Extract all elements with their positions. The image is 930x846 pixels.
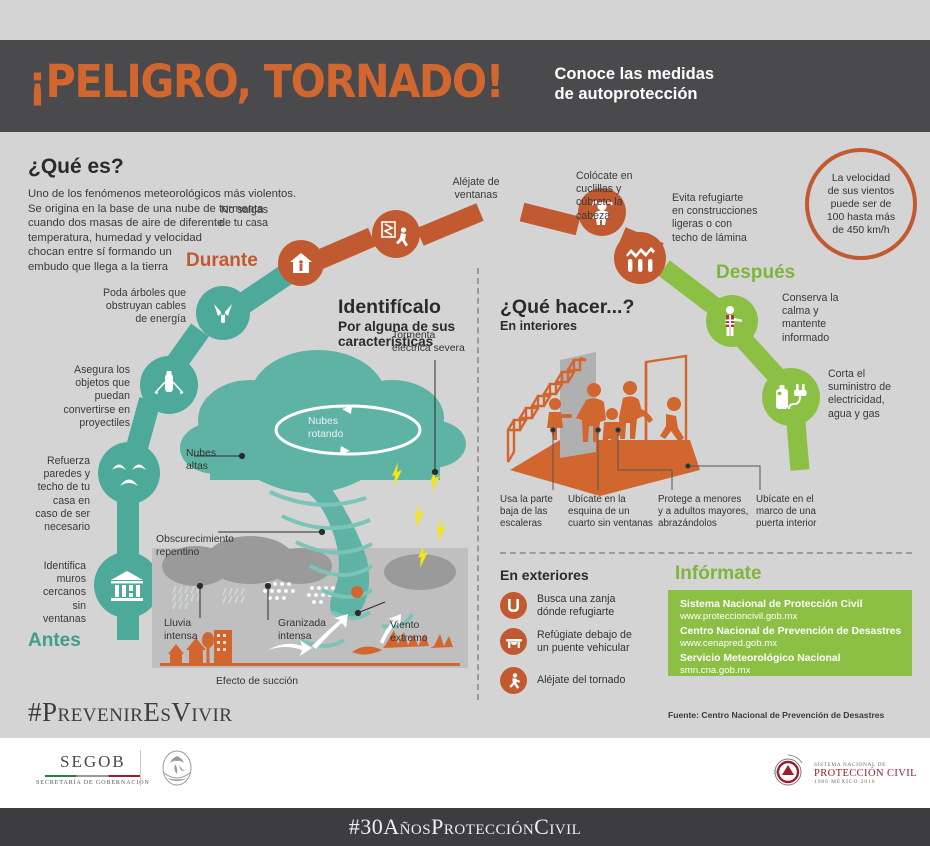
informate-url-2[interactable]: smn.cna.gob.mx: [680, 665, 841, 677]
intro-heading: ¿Qué es?: [28, 155, 124, 179]
label-viento-extremo: Viento extremo: [390, 620, 456, 645]
stage-label-durante: Durante: [186, 250, 258, 272]
header-subtitle: Conoce las medidas de autoprotección: [555, 64, 715, 104]
label-efecto-succion: Efecto de succión: [216, 676, 376, 689]
footer-divider: [140, 750, 141, 786]
node-durante-lightroof[interactable]: [614, 232, 666, 284]
informate-name-2: Servicio Meteorológico Nacional: [680, 653, 841, 665]
label-tormenta-electrica: Tormenta eléctrica severa: [392, 330, 482, 355]
label-despues-suministro: Corta el suministro de electricidad, agu…: [828, 368, 924, 421]
node-durante-house[interactable]: [278, 240, 324, 286]
wind-speed-text: La velocidad de sus vientos puede ser de…: [827, 172, 895, 237]
label-antes-walls: Refuerza paredes y techo de tu casa en c…: [4, 455, 90, 534]
label-antes-shears: Poda árboles que obstruyan cables de ene…: [58, 287, 186, 327]
informate-name-0: Sistema Nacional de Protección Civil: [680, 599, 862, 611]
stage-label-despues: Después: [716, 262, 795, 284]
node-antes-objects[interactable]: [140, 356, 198, 414]
exteriores-label-0: Busca una zanja dónde refugiarte: [537, 593, 615, 619]
stage-label-antes: Antes: [28, 630, 81, 652]
informate-url-1[interactable]: www.cenapred.gob.mx: [680, 638, 901, 650]
bridge-icon: [500, 628, 527, 655]
label-nubes-altas: Nubes altas: [186, 448, 246, 473]
informate-url-0[interactable]: www.proteccioncivil.gob.mx: [680, 611, 862, 623]
label-durante-house: No salgas de tu casa: [186, 204, 268, 230]
segob-name: SEGOB: [36, 752, 150, 772]
gas-tank-icon: [152, 368, 186, 402]
horizontal-divider: [500, 552, 912, 554]
footer-dark: #30AñosProtecciónCivil: [0, 808, 930, 846]
node-despues-calma[interactable]: [706, 295, 758, 347]
page-title: ¡PELIGRO, TORNADO!: [28, 58, 503, 106]
label-durante-window: Aléjate de ventanas: [428, 176, 524, 202]
label-durante-lightroof: Evita refugiarte en construcciones liger…: [672, 192, 790, 245]
proteccion-civil-logo: 30 SISTEMA NACIONAL DE PROTECCIÓN CIVIL …: [768, 752, 917, 795]
label-durante-crouch: Colócate en cuclillas y cúbrete la cabez…: [576, 170, 666, 223]
identificalo-title: Identifícalo: [338, 296, 441, 319]
pc-line-3: 1986 MÉXICO 2016: [814, 779, 917, 785]
quehacer-title: ¿Qué hacer...?: [500, 296, 634, 319]
roof-walls-icon: [109, 456, 149, 490]
hashtag-prevenir: #PrevenirEsVivir: [28, 697, 232, 728]
svg-text:30: 30: [773, 770, 779, 776]
node-antes-walls[interactable]: [98, 442, 160, 504]
label-granizada-intensa: Granizada intensa: [278, 618, 352, 643]
exteriores-item-0[interactable]: Busca una zanja dónde refugiarte: [500, 592, 680, 619]
informate-name-1: Centro Nacional de Prevención de Desastr…: [680, 626, 901, 638]
label-nubes-rotando: Nubes rotando: [308, 416, 388, 441]
house-icon: [287, 249, 315, 277]
source-note: Fuente: Centro Nacional de Prevención de…: [668, 710, 884, 720]
interior-item-1: Ubícate en la esquina de un cuarto sin v…: [568, 494, 658, 530]
ditch-icon: [500, 592, 527, 619]
node-despues-suministro[interactable]: [762, 368, 820, 426]
exteriores-item-1[interactable]: Refúgiate debajo de un puente vehicular: [500, 628, 690, 655]
segob-tricolor-bar: [45, 775, 141, 777]
vest-person-icon: [717, 304, 747, 338]
label-obscurecimiento: Obscurecimiento repentino: [156, 534, 266, 559]
hashtag-30anos: #30AñosProtecciónCivil: [349, 814, 582, 840]
segob-logo: SEGOB SECRETARÍA DE GOBERNACIÓN: [36, 752, 150, 786]
pc-line-2: PROTECCIÓN CIVIL: [814, 768, 917, 779]
quehacer-subtitle: En interiores: [500, 319, 577, 333]
interior-item-2: Protege a menores y a adultos mayores, a…: [658, 494, 752, 530]
exteriores-heading: En exteriores: [500, 567, 589, 583]
label-antes-building: Identifica muros cercanos sin ventanas: [6, 560, 86, 626]
label-despues-calma: Conserva la calma y mantente informado: [782, 292, 878, 345]
exteriores-label-1: Refúgiate debajo de un puente vehicular: [537, 629, 632, 655]
node-durante-window[interactable]: [372, 210, 420, 258]
interior-item-0: Usa la parte baja de las escaleras: [500, 494, 570, 530]
wind-speed-badge: La velocidad de sus vientos puede ser de…: [805, 148, 917, 260]
informate-heading: Infórmate: [675, 563, 762, 585]
top-margin: [0, 0, 930, 40]
segob-subtitle: SECRETARÍA DE GOBERNACIÓN: [36, 779, 150, 786]
label-lluvia-intensa: Lluvia intensa: [164, 618, 224, 643]
header-bar: ¡PELIGRO, TORNADO! Conoce las medidas de…: [0, 40, 930, 132]
light-roof-icon: [622, 243, 658, 273]
node-antes-shears[interactable]: [196, 286, 250, 340]
running-icon: [500, 667, 527, 694]
mexico-eagle-seal-icon: [155, 748, 199, 793]
exteriores-item-2[interactable]: Aléjate del tornado: [500, 667, 690, 694]
label-antes-objects: Asegura los objetos que puedan convertir…: [14, 364, 130, 430]
node-antes-building[interactable]: [94, 552, 160, 618]
gas-plug-icon: [772, 381, 810, 413]
exteriores-label-2: Aléjate del tornado: [537, 674, 625, 687]
infographic-page: ¡PELIGRO, TORNADO! Conoce las medidas de…: [0, 0, 930, 846]
interior-item-3: Ubícate en el marco de una puerta interi…: [756, 494, 838, 530]
building-icon: [107, 567, 147, 603]
window-run-icon: [379, 219, 413, 249]
pc-30-aniversario-icon: 30: [768, 752, 808, 795]
informate-box: Sistema Nacional de Protección Civil www…: [668, 590, 912, 676]
shears-icon: [208, 298, 238, 328]
